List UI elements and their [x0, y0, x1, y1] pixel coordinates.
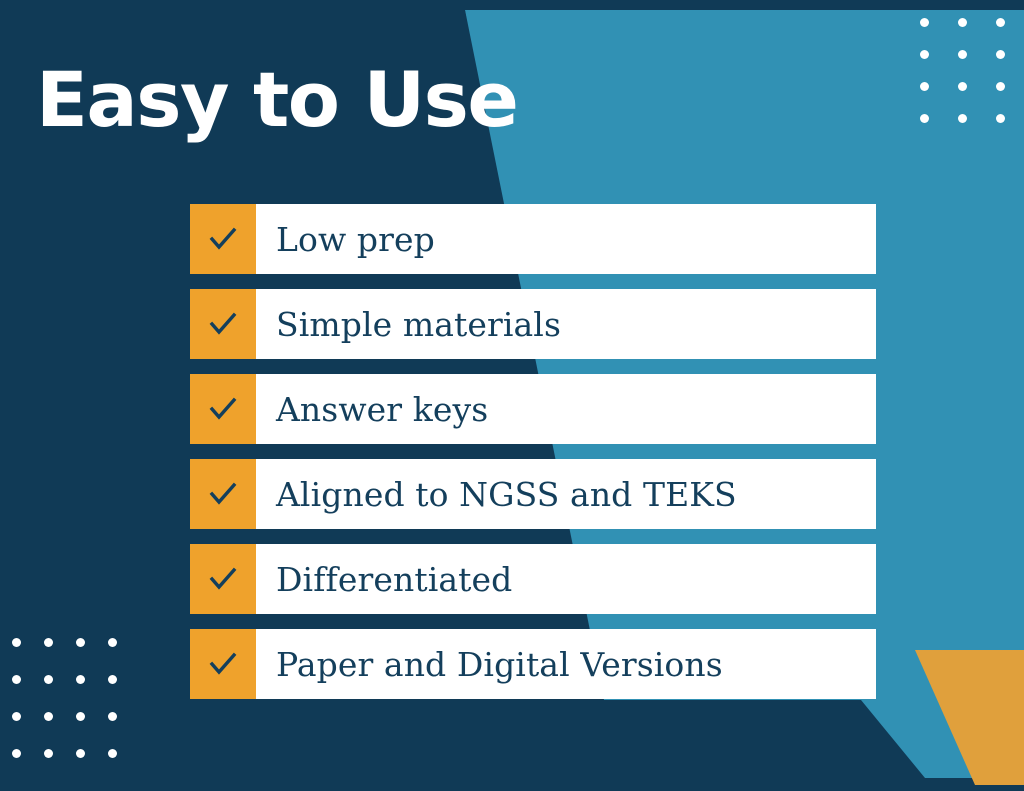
decorative-dot [958, 18, 967, 27]
decorative-dot [76, 675, 85, 684]
decorative-dot [44, 638, 53, 647]
checkbox-cell[interactable] [190, 544, 256, 614]
list-item-label: Differentiated [256, 544, 876, 614]
decorative-dot [108, 712, 117, 721]
feature-checklist: Low prep Simple materials Answer [190, 204, 876, 699]
decorative-dot [44, 749, 53, 758]
checkbox-cell[interactable] [190, 459, 256, 529]
checkbox-cell[interactable] [190, 289, 256, 359]
list-item[interactable]: Answer keys [190, 374, 876, 444]
decorative-dot [12, 712, 21, 721]
decorative-dot [920, 18, 929, 27]
decorative-dot [76, 638, 85, 647]
decorative-dot [996, 114, 1005, 123]
list-item-label: Low prep [256, 204, 876, 274]
decorative-dot [44, 712, 53, 721]
decorative-dot [996, 82, 1005, 91]
list-item-label: Aligned to NGSS and TEKS [256, 459, 876, 529]
page-title: Easy to Use [36, 52, 517, 148]
decorative-dot [996, 50, 1005, 59]
check-mark-icon [208, 479, 238, 509]
top-right-dot-grid [920, 18, 1016, 138]
decorative-dot [108, 749, 117, 758]
decorative-dot [12, 749, 21, 758]
checkbox-cell[interactable] [190, 204, 256, 274]
list-item[interactable]: Differentiated [190, 544, 876, 614]
checkbox-cell[interactable] [190, 629, 256, 699]
decorative-dot [958, 82, 967, 91]
check-mark-icon [208, 649, 238, 679]
decorative-dot [958, 50, 967, 59]
check-mark-icon [208, 309, 238, 339]
checkbox-cell[interactable] [190, 374, 256, 444]
list-item[interactable]: Aligned to NGSS and TEKS [190, 459, 876, 529]
list-item[interactable]: Low prep [190, 204, 876, 274]
decorative-dot [44, 675, 53, 684]
check-mark-icon [208, 394, 238, 424]
list-item[interactable]: Simple materials [190, 289, 876, 359]
decorative-dot [920, 82, 929, 91]
decorative-dot [12, 638, 21, 647]
decorative-dot [996, 18, 1005, 27]
list-item-label: Simple materials [256, 289, 876, 359]
check-mark-icon [208, 224, 238, 254]
bottom-left-dot-grid [12, 638, 142, 768]
decorative-dot [108, 675, 117, 684]
list-item[interactable]: Paper and Digital Versions [190, 629, 876, 699]
check-mark-icon [208, 564, 238, 594]
decorative-dot [76, 712, 85, 721]
decorative-dot [920, 114, 929, 123]
decorative-dot [108, 638, 117, 647]
list-item-label: Paper and Digital Versions [256, 629, 876, 699]
decorative-dot [958, 114, 967, 123]
decorative-dot [920, 50, 929, 59]
decorative-dot [76, 749, 85, 758]
slide-canvas: Easy to Use [0, 0, 1024, 791]
list-item-label: Answer keys [256, 374, 876, 444]
decorative-dot [12, 675, 21, 684]
